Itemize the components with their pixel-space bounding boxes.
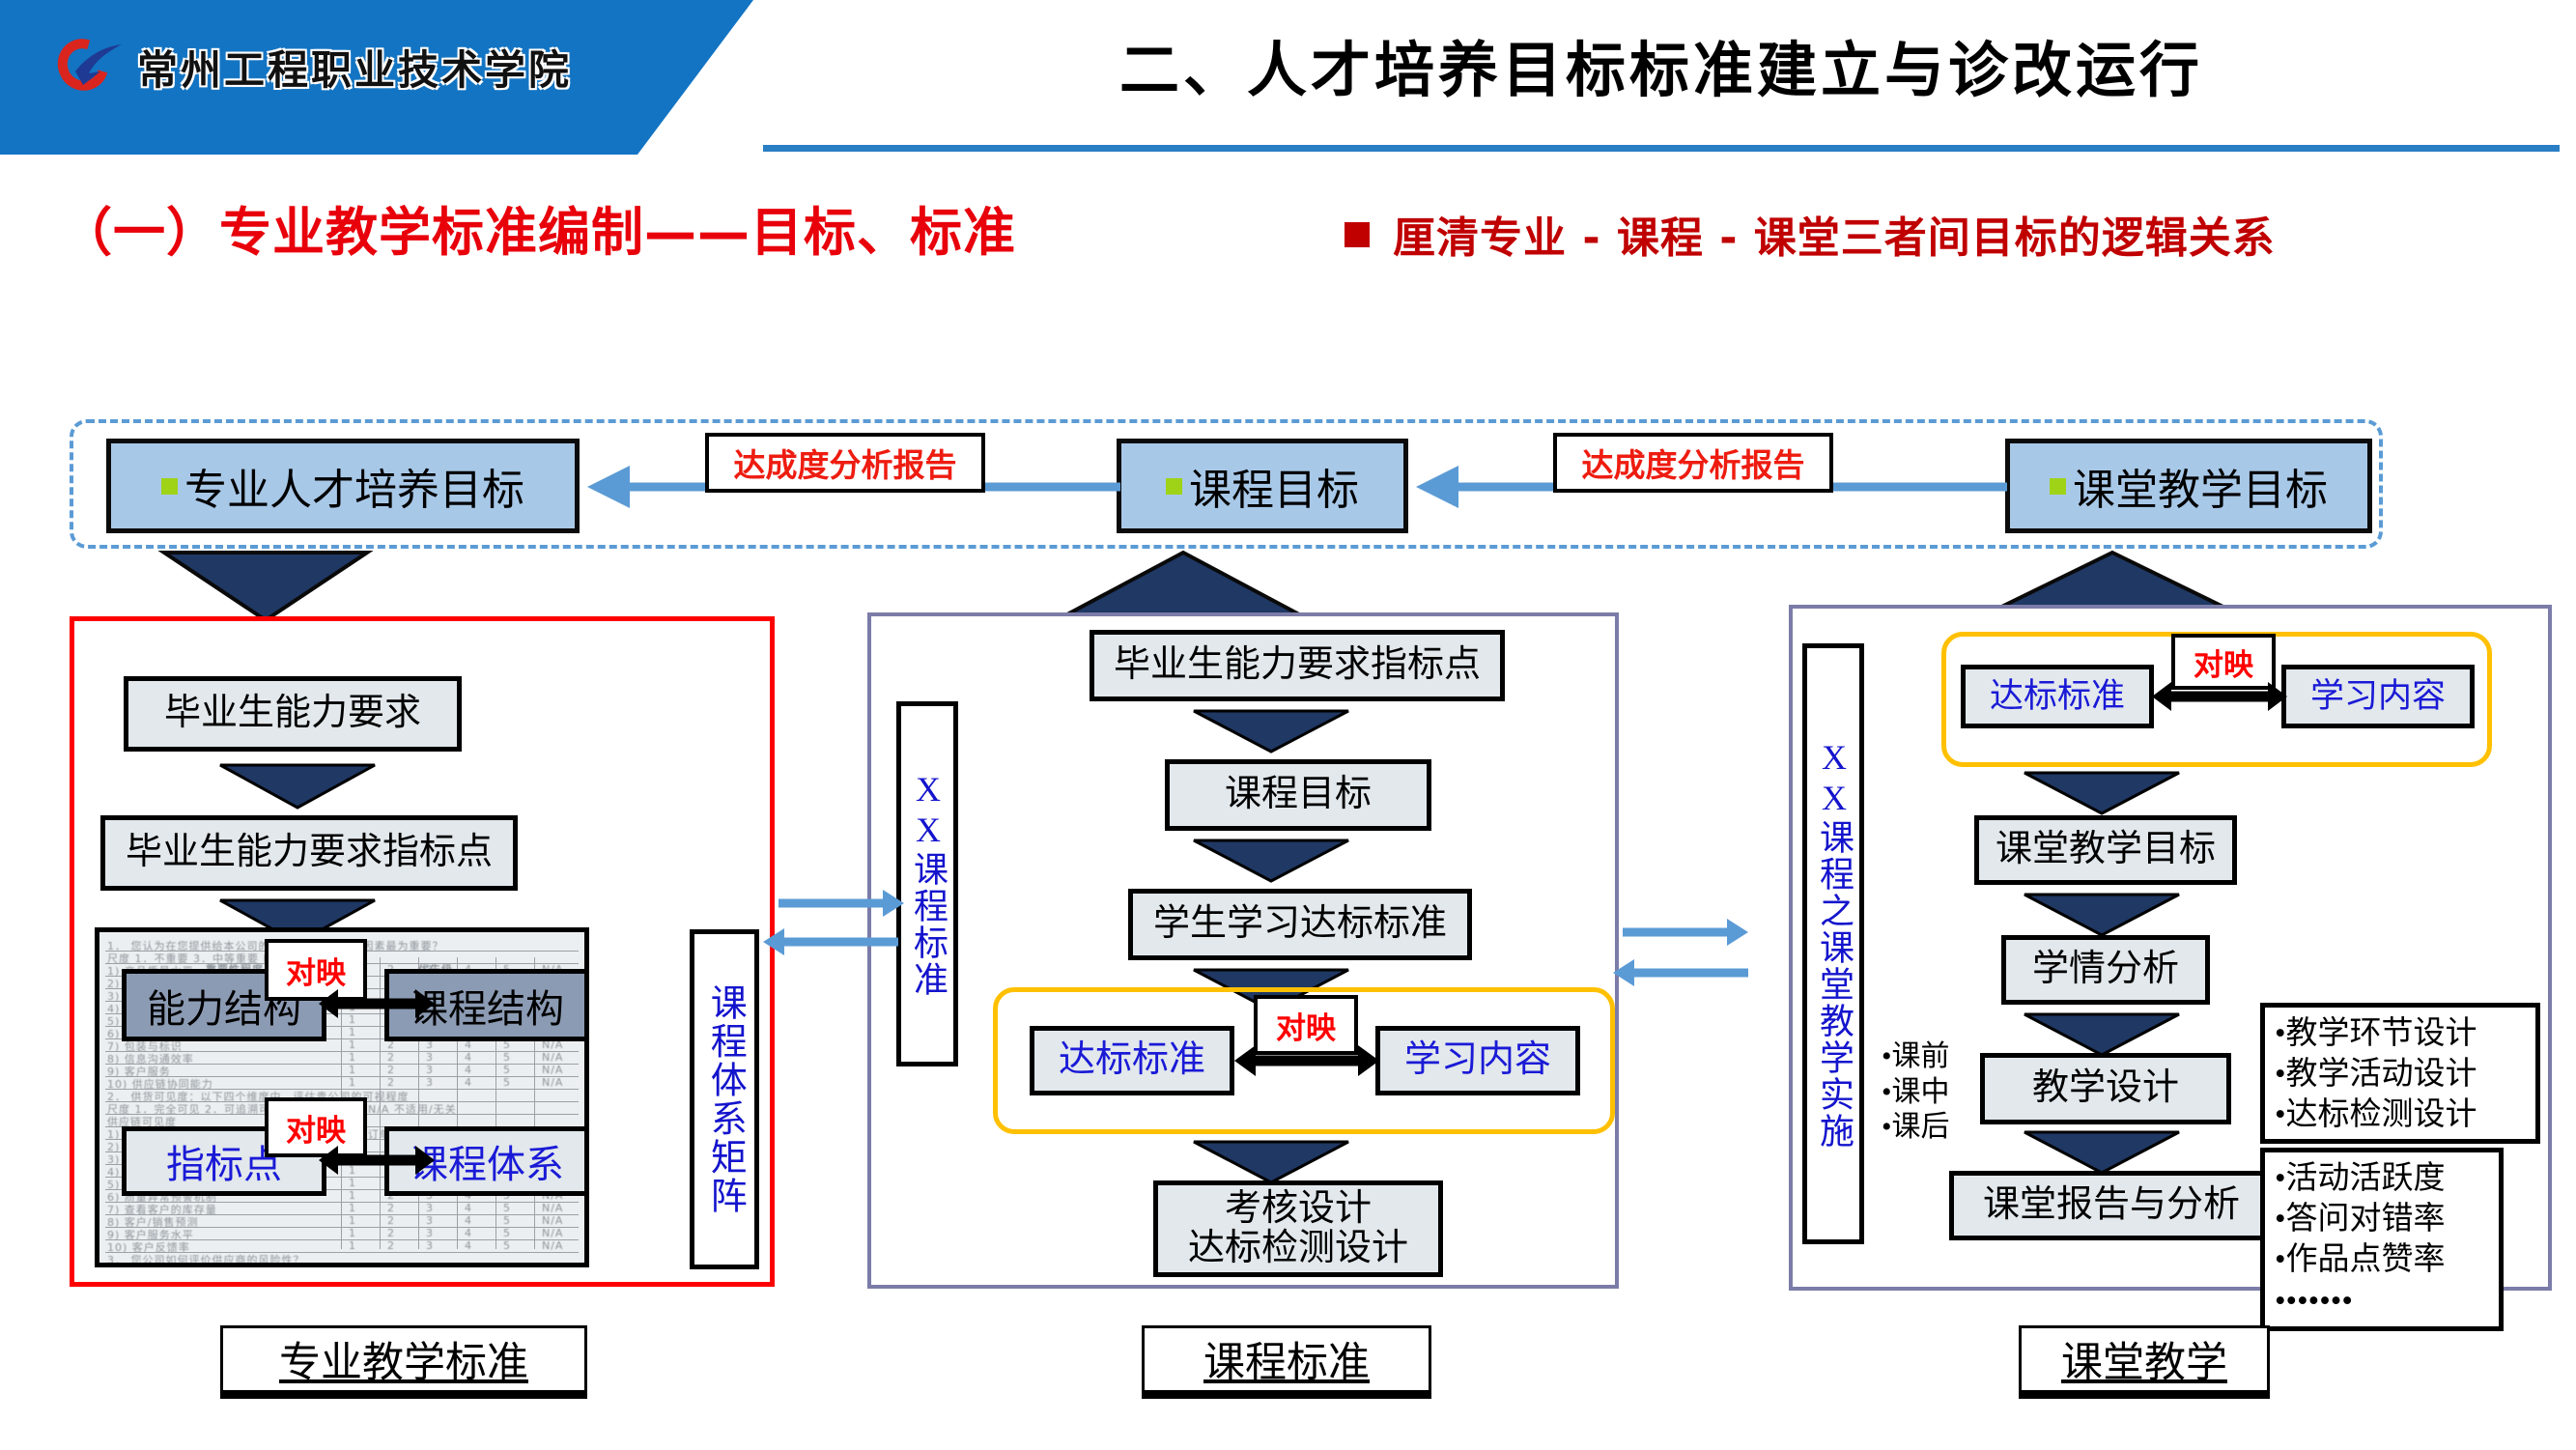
matrix-scale-value: 4 xyxy=(465,1076,472,1089)
goal-box-course-label: 课程目标 xyxy=(1189,455,1359,517)
matrix-scale-value: 1 xyxy=(349,1189,356,1202)
section-subtitle-note: 厘清专业 - 课程 - 课堂三者间目标的逻辑关系 xyxy=(1393,203,2276,265)
university-emblem-icon xyxy=(58,37,124,97)
matrix-scale-value: N/A xyxy=(542,1202,563,1214)
matrix-scale-value: 3 xyxy=(426,1064,434,1076)
matrix-scale-value: 5 xyxy=(503,1239,511,1252)
chevron-down-icon xyxy=(2024,1132,2179,1173)
report-label-1: 达成度分析报告 xyxy=(705,433,985,493)
matrix-scale-value: 5 xyxy=(503,1214,511,1227)
foot-label-major-standard[interactable]: 专业教学标准 xyxy=(220,1325,587,1399)
matrix-scale-value: 1 xyxy=(349,1038,356,1051)
connector-arrow-right xyxy=(778,889,904,918)
double-arrow-icon xyxy=(1234,1043,1379,1078)
foot-label-classroom-teaching[interactable]: 课堂教学 xyxy=(2019,1325,2270,1399)
matrix-scale-value: 2 xyxy=(387,1202,395,1214)
mid-step-course-goal[interactable]: 课程目标 xyxy=(1165,759,1431,831)
goal-box-major[interactable]: 专业人才培养目标 xyxy=(106,439,580,533)
matrix-scale-value: 4 xyxy=(465,1051,472,1064)
matrix-scale-value: 5 xyxy=(503,1227,511,1239)
matrix-scale-value: 4 xyxy=(465,1227,472,1239)
right-step-class-goal[interactable]: 课堂教学目标 xyxy=(1974,815,2237,885)
section-subtitle: （一）专业教学标准编制——目标、标准 xyxy=(60,189,1016,266)
university-logo: 常州工程职业技术学院 xyxy=(58,37,572,97)
matrix-scale-value: N/A xyxy=(542,1227,563,1239)
matrix-scale-value: 2 xyxy=(387,1227,395,1239)
side-label-xx-course-classroom: XX课程之课堂教学实施 xyxy=(1802,643,1864,1244)
matrix-scale-value: 3 xyxy=(426,1202,434,1214)
matrix-scale-value: 3 xyxy=(426,1051,434,1064)
green-square-icon xyxy=(161,478,178,495)
foot-label-course-standard[interactable]: 课程标准 xyxy=(1142,1325,1431,1399)
matrix-scale-value: 1 xyxy=(349,1177,356,1189)
matrix-gridline xyxy=(105,1265,579,1265)
matrix-scale-value: 1 xyxy=(349,1076,356,1089)
design-bullets-box: •教学环节设计 •教学活动设计 •达标检测设计 xyxy=(2260,1003,2540,1144)
double-arrow-icon xyxy=(319,987,435,1020)
matrix-scale-value: 2 xyxy=(387,1076,395,1089)
mid-mapping-standard[interactable]: 达标标准 xyxy=(1030,1026,1234,1095)
swoosh-shape-icon xyxy=(73,43,124,87)
mid-mapping-content[interactable]: 学习内容 xyxy=(1375,1026,1580,1095)
connector-arrow-left xyxy=(1613,958,1748,987)
matrix-scale-value: 1 xyxy=(349,1214,356,1227)
goal-box-course[interactable]: 课程目标 xyxy=(1117,439,1408,533)
matrix-scale-value: 3 xyxy=(426,1227,434,1239)
mid-step-assessment-design[interactable]: 考核设计 达标检测设计 xyxy=(1153,1180,1443,1277)
matrix-scale-value: 3 xyxy=(426,1076,434,1089)
right-mapping-standard[interactable]: 达标标准 xyxy=(1961,665,2154,728)
matrix-scale-value: 4 xyxy=(465,1239,472,1252)
phase-bullets: •课前 •课中 •课后 xyxy=(1882,1039,1988,1146)
matrix-scale-value: 2 xyxy=(387,1064,395,1076)
matrix-scale-value: 2 xyxy=(387,1239,395,1252)
goal-box-major-label: 专业人才培养目标 xyxy=(184,455,524,517)
matrix-scale-value: 1 xyxy=(349,1026,356,1038)
chevron-down-icon xyxy=(1194,1142,1348,1182)
matrix-scale-value: 1 xyxy=(349,1202,356,1214)
matrix-scale-value: 3 xyxy=(426,1239,434,1252)
chevron-down-icon xyxy=(164,553,367,620)
matrix-scale-value: 3 xyxy=(426,1214,434,1227)
matrix-scale-value: 5 xyxy=(503,1064,511,1076)
chevron-down-icon xyxy=(2024,773,2179,813)
goal-box-class-label: 课堂教学目标 xyxy=(2073,455,2328,517)
side-label-xx-course-standard: XX课程标准 xyxy=(896,701,958,1066)
green-square-icon xyxy=(2050,478,2066,495)
right-step-situation-analysis[interactable]: 学情分析 xyxy=(2001,935,2210,1005)
matrix-row-text: 3． 您公司如何评价供应商的风险性？ xyxy=(107,1252,305,1267)
square-bullet-icon xyxy=(1345,222,1370,247)
chevron-down-icon xyxy=(220,765,375,808)
step-graduate-ability[interactable]: 毕业生能力要求 xyxy=(124,676,462,752)
matrix-scale-value: 1 xyxy=(349,1064,356,1076)
matrix-scale-value: 5 xyxy=(503,1202,511,1214)
mid-step-student-standard[interactable]: 学生学习达标标准 xyxy=(1128,889,1472,960)
matrix-scale-value: 1 xyxy=(349,1239,356,1252)
right-mapping-content[interactable]: 学习内容 xyxy=(2281,665,2475,728)
matrix-scale-value: 2 xyxy=(387,1051,395,1064)
report-label-2: 达成度分析报告 xyxy=(1553,433,1833,493)
goal-box-class[interactable]: 课堂教学目标 xyxy=(2005,439,2372,533)
chevron-down-icon xyxy=(2024,1014,2179,1055)
matrix-scale-value: 5 xyxy=(503,1076,511,1089)
matrix-scale-value: 4 xyxy=(465,1214,472,1227)
matrix-scale-value: N/A xyxy=(542,1076,563,1089)
green-square-icon xyxy=(1166,478,1182,495)
matrix-scale-value: 2 xyxy=(387,1214,395,1227)
page-title: 二、人才培养目标标准建立与诊改运行 xyxy=(792,21,2531,108)
matrix-scale-value: N/A xyxy=(542,1064,563,1076)
metric-bullets-box: •活动活跃度 •答问对错率 •作品点赞率 ••••••• xyxy=(2260,1148,2504,1331)
matrix-scale-value: 5 xyxy=(503,1051,511,1064)
mid-step-indicator-point[interactable]: 毕业生能力要求指标点 xyxy=(1090,630,1505,701)
matrix-scale-value: 4 xyxy=(465,1202,472,1214)
university-name: 常州工程职业技术学院 xyxy=(137,38,572,97)
chevron-down-icon xyxy=(1194,711,1348,752)
chevron-down-icon xyxy=(1194,840,1348,881)
matrix-scale-value: N/A xyxy=(542,1051,563,1064)
matrix-scale-value: N/A xyxy=(542,1239,563,1252)
connector-arrow-right xyxy=(1623,918,1748,947)
matrix-scale-value: 1 xyxy=(349,1227,356,1239)
double-arrow-icon xyxy=(2152,680,2287,713)
connector-arrow-left xyxy=(763,927,898,956)
matrix-scale-value: 4 xyxy=(465,1064,472,1076)
right-step-teaching-design[interactable]: 教学设计 xyxy=(1980,1053,2231,1124)
double-arrow-icon xyxy=(319,1144,435,1177)
header-rule xyxy=(763,145,2560,152)
matrix-scale-value: 1 xyxy=(349,1051,356,1064)
step-graduate-ability-indicator[interactable]: 毕业生能力要求指标点 xyxy=(100,815,518,891)
chevron-down-icon xyxy=(2024,895,2179,935)
side-label-curriculum-matrix: 课程体系矩阵 xyxy=(690,929,759,1269)
matrix-scale-value: N/A xyxy=(542,1214,563,1227)
right-step-class-report[interactable]: 课堂报告与分析 xyxy=(1949,1171,2274,1240)
